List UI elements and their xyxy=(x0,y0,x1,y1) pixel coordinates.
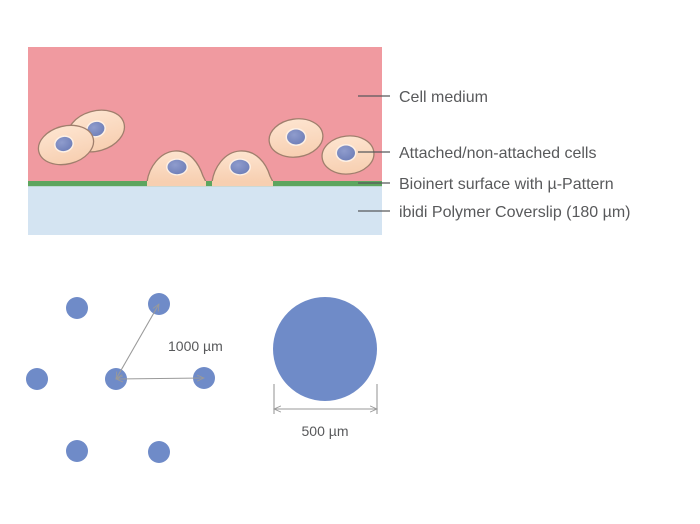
label-spot-diameter: 500 µm xyxy=(302,423,349,439)
cell-nucleus xyxy=(231,160,250,174)
label-cell-medium: Cell medium xyxy=(399,89,488,106)
polymer-coverslip-layer xyxy=(28,186,382,235)
pattern-dot xyxy=(148,441,170,463)
cell-nucleus xyxy=(287,130,305,145)
cell-nucleus xyxy=(168,160,187,174)
cell-nucleus xyxy=(337,146,355,161)
pattern-dot xyxy=(66,297,88,319)
label-bioinert-surface: Bioinert surface with µ-Pattern xyxy=(399,176,614,193)
label-polymer-coverslip: ibidi Polymer Coverslip (180 µm) xyxy=(399,204,631,221)
cross-section-panel xyxy=(28,47,382,235)
pattern-dot xyxy=(26,368,48,390)
pattern-dot xyxy=(66,440,88,462)
label-pattern-spacing: 1000 µm xyxy=(168,338,223,354)
ibidi-micropattern-diagram: Cell medium Attached/non-attached cells … xyxy=(0,0,700,524)
label-attached-cells: Attached/non-attached cells xyxy=(399,145,596,162)
micropattern-spot xyxy=(147,181,206,186)
micropattern-spot xyxy=(212,181,273,186)
pattern-spot-circle xyxy=(273,297,377,401)
